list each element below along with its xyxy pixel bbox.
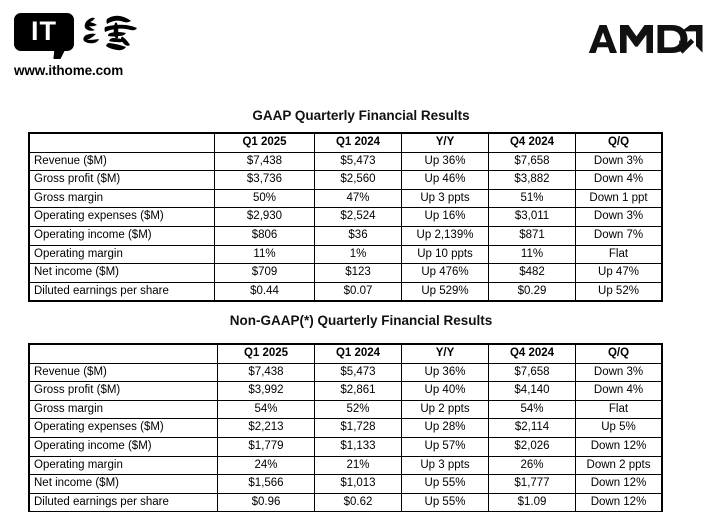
row-label: Gross margin: [30, 189, 215, 208]
cell-yy: Up 28%: [402, 419, 489, 438]
row-label: Operating margin: [30, 245, 215, 264]
zhijia-calligraphy-icon: [83, 13, 139, 55]
row-label: Operating expenses ($M): [30, 208, 215, 227]
gaap-results-table: Q1 2025 Q1 2024 Y/Y Q4 2024 Q/Q Revenue …: [29, 133, 662, 301]
cell-q1-2024: $5,473: [315, 363, 402, 382]
cell-q1-2025: $1,779: [218, 437, 315, 456]
table-header-row: Q1 2025 Q1 2024 Y/Y Q4 2024 Q/Q: [30, 134, 662, 153]
cell-qq: Down 1 ppt: [576, 189, 662, 208]
cell-yy: Up 529%: [402, 282, 489, 301]
speech-bubble-tail-icon: [53, 49, 65, 59]
cell-q4-2024: $0.29: [489, 282, 576, 301]
cell-q4-2024: $4,140: [489, 382, 576, 401]
table-row: Revenue ($M) $7,438 $5,473 Up 36% $7,658…: [30, 363, 662, 382]
table-row: Diluted earnings per share $0.44 $0.07 U…: [30, 282, 662, 301]
cell-yy: Up 2 ppts: [402, 400, 489, 419]
page-header: IT: [0, 0, 722, 90]
cell-q1-2025: $0.44: [215, 282, 315, 301]
table-row: Operating expenses ($M) $2,213 $1,728 Up…: [30, 419, 662, 438]
cell-q1-2024: $2,560: [315, 171, 402, 190]
table-row: Gross profit ($M) $3,992 $2,861 Up 40% $…: [30, 382, 662, 401]
cell-yy: Up 55%: [402, 475, 489, 494]
cell-q1-2025: $806: [215, 226, 315, 245]
cell-qq: Up 5%: [576, 419, 662, 438]
table-row: Revenue ($M) $7,438 $5,473 Up 36% $7,658…: [30, 152, 662, 171]
cell-qq: Down 3%: [576, 152, 662, 171]
table-row: Gross profit ($M) $3,736 $2,560 Up 46% $…: [30, 171, 662, 190]
cell-qq: Down 12%: [576, 475, 662, 494]
column-header-q4-2024: Q4 2024: [489, 345, 576, 364]
ithome-logo: IT: [14, 13, 244, 55]
table-row: Diluted earnings per share $0.96 $0.62 U…: [30, 493, 662, 512]
amd-logo-icon: [586, 22, 704, 56]
cell-q1-2024: $123: [315, 264, 402, 283]
table-row: Operating margin 11% 1% Up 10 ppts 11% F…: [30, 245, 662, 264]
cell-q1-2024: $2,861: [315, 382, 402, 401]
cell-qq: Down 3%: [576, 208, 662, 227]
column-header-qq: Q/Q: [576, 345, 662, 364]
row-label: Net income ($M): [30, 264, 215, 283]
row-label: Gross profit ($M): [30, 382, 218, 401]
cell-q4-2024: $482: [489, 264, 576, 283]
column-header-q1-2025: Q1 2025: [218, 345, 315, 364]
cell-yy: Up 36%: [402, 152, 489, 171]
table-row: Operating income ($M) $1,779 $1,133 Up 5…: [30, 437, 662, 456]
cell-yy: Up 40%: [402, 382, 489, 401]
row-label: Operating income ($M): [30, 226, 215, 245]
table-row: Operating income ($M) $806 $36 Up 2,139%…: [30, 226, 662, 245]
cell-yy: Up 476%: [402, 264, 489, 283]
cell-q1-2025: $0.96: [218, 493, 315, 512]
nongaap-section-title: Non-GAAP(*) Quarterly Financial Results: [0, 313, 722, 328]
column-header-yy: Y/Y: [402, 345, 489, 364]
column-header-metric: [30, 134, 215, 153]
cell-q1-2024: $5,473: [315, 152, 402, 171]
table-header-row: Q1 2025 Q1 2024 Y/Y Q4 2024 Q/Q: [30, 345, 662, 364]
row-label: Diluted earnings per share: [30, 493, 218, 512]
cell-q4-2024: $2,114: [489, 419, 576, 438]
cell-qq: Down 3%: [576, 363, 662, 382]
cell-q4-2024: $3,011: [489, 208, 576, 227]
cell-q1-2025: $709: [215, 264, 315, 283]
row-label: Revenue ($M): [30, 363, 218, 382]
cell-qq: Down 4%: [576, 171, 662, 190]
cell-qq: Down 12%: [576, 493, 662, 512]
cell-qq: Flat: [576, 400, 662, 419]
row-label: Operating expenses ($M): [30, 419, 218, 438]
cell-yy: Up 10 ppts: [402, 245, 489, 264]
nongaap-results-table: Q1 2025 Q1 2024 Y/Y Q4 2024 Q/Q Revenue …: [29, 344, 662, 512]
cell-q1-2024: $2,524: [315, 208, 402, 227]
cell-q4-2024: $7,658: [489, 363, 576, 382]
cell-q4-2024: $871: [489, 226, 576, 245]
cell-qq: Down 4%: [576, 382, 662, 401]
cell-qq: Down 2 ppts: [576, 456, 662, 475]
row-label: Diluted earnings per share: [30, 282, 215, 301]
gaap-table-head: Q1 2025 Q1 2024 Y/Y Q4 2024 Q/Q: [30, 134, 662, 153]
cell-yy: Up 36%: [402, 363, 489, 382]
nongaap-table-head: Q1 2025 Q1 2024 Y/Y Q4 2024 Q/Q: [30, 345, 662, 364]
cell-q1-2024: 47%: [315, 189, 402, 208]
row-label: Operating income ($M): [30, 437, 218, 456]
table-row: Gross margin 50% 47% Up 3 ppts 51% Down …: [30, 189, 662, 208]
cell-yy: Up 57%: [402, 437, 489, 456]
cell-q4-2024: 26%: [489, 456, 576, 475]
cell-q4-2024: $1.09: [489, 493, 576, 512]
column-header-qq: Q/Q: [576, 134, 662, 153]
gaap-table-body: Revenue ($M) $7,438 $5,473 Up 36% $7,658…: [30, 152, 662, 301]
column-header-q1-2024: Q1 2024: [315, 134, 402, 153]
cell-q1-2025: 50%: [215, 189, 315, 208]
cell-yy: Up 55%: [402, 493, 489, 512]
cell-q1-2025: $3,736: [215, 171, 315, 190]
nongaap-table-body: Revenue ($M) $7,438 $5,473 Up 36% $7,658…: [30, 363, 662, 512]
table-row: Net income ($M) $709 $123 Up 476% $482 U…: [30, 264, 662, 283]
cell-q4-2024: 51%: [489, 189, 576, 208]
table-row: Operating margin 24% 21% Up 3 ppts 26% D…: [30, 456, 662, 475]
cell-yy: Up 16%: [402, 208, 489, 227]
it-badge-icon: IT: [14, 13, 74, 51]
row-label: Gross margin: [30, 400, 218, 419]
cell-q1-2025: $7,438: [218, 363, 315, 382]
cell-q4-2024: $7,658: [489, 152, 576, 171]
ithome-brand: IT: [14, 13, 244, 78]
column-header-q4-2024: Q4 2024: [489, 134, 576, 153]
ithome-url: www.ithome.com: [14, 63, 244, 78]
cell-q1-2024: $0.07: [315, 282, 402, 301]
column-header-yy: Y/Y: [402, 134, 489, 153]
cell-q1-2024: 1%: [315, 245, 402, 264]
cell-q1-2025: $1,566: [218, 475, 315, 494]
cell-yy: Up 46%: [402, 171, 489, 190]
cell-q1-2025: $7,438: [215, 152, 315, 171]
cell-q1-2025: $2,213: [218, 419, 315, 438]
cell-qq: Up 47%: [576, 264, 662, 283]
row-label: Net income ($M): [30, 475, 218, 494]
cell-q4-2024: $1,777: [489, 475, 576, 494]
cell-q4-2024: $3,882: [489, 171, 576, 190]
table-row: Net income ($M) $1,566 $1,013 Up 55% $1,…: [30, 475, 662, 494]
cell-q1-2025: 54%: [218, 400, 315, 419]
cell-qq: Down 7%: [576, 226, 662, 245]
row-label: Revenue ($M): [30, 152, 215, 171]
cell-q1-2024: $1,013: [315, 475, 402, 494]
cell-q1-2024: 21%: [315, 456, 402, 475]
table-row: Operating expenses ($M) $2,930 $2,524 Up…: [30, 208, 662, 227]
cell-q1-2024: $1,728: [315, 419, 402, 438]
cell-yy: Up 3 ppts: [402, 456, 489, 475]
cell-qq: Down 12%: [576, 437, 662, 456]
cell-q1-2024: $0.62: [315, 493, 402, 512]
gaap-section-title: GAAP Quarterly Financial Results: [0, 108, 722, 123]
cell-q4-2024: 54%: [489, 400, 576, 419]
cell-yy: Up 2,139%: [402, 226, 489, 245]
cell-q4-2024: $2,026: [489, 437, 576, 456]
row-label: Operating margin: [30, 456, 218, 475]
column-header-q1-2024: Q1 2024: [315, 345, 402, 364]
cell-q1-2025: $3,992: [218, 382, 315, 401]
cell-yy: Up 3 ppts: [402, 189, 489, 208]
cell-q4-2024: 11%: [489, 245, 576, 264]
it-badge-label: IT: [31, 18, 57, 46]
column-header-metric: [30, 345, 218, 364]
cell-q1-2025: 24%: [218, 456, 315, 475]
cell-q1-2025: $2,930: [215, 208, 315, 227]
cell-q1-2024: 52%: [315, 400, 402, 419]
cell-qq: Flat: [576, 245, 662, 264]
column-header-q1-2025: Q1 2025: [215, 134, 315, 153]
table-row: Gross margin 54% 52% Up 2 ppts 54% Flat: [30, 400, 662, 419]
cell-q1-2024: $36: [315, 226, 402, 245]
cell-q1-2024: $1,133: [315, 437, 402, 456]
cell-qq: Up 52%: [576, 282, 662, 301]
row-label: Gross profit ($M): [30, 171, 215, 190]
cell-q1-2025: 11%: [215, 245, 315, 264]
